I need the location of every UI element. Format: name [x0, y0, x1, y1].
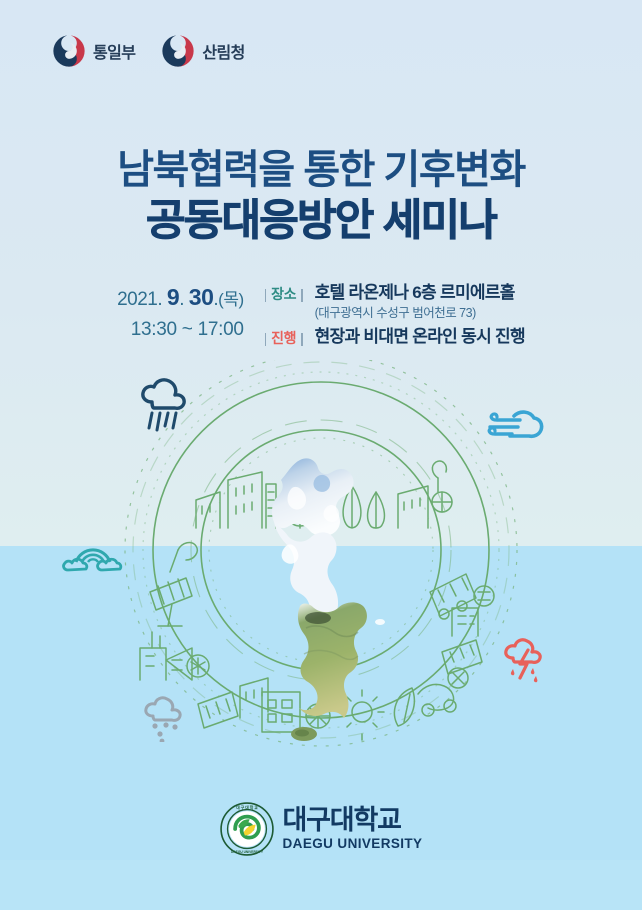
mode-description: 현장과 비대면 온라인 동시 진행: [315, 325, 525, 349]
transport-icons-right: [418, 668, 468, 716]
sea-background-lower: [0, 860, 642, 910]
ulleung-island: [375, 619, 385, 625]
svg-text:대 구 대 학 교: 대 구 대 학 교: [236, 805, 258, 810]
korea-forest-service-logo: 산림청: [161, 34, 244, 68]
event-info: 2021. 9. 30.(목) 13:30 ~ 17:00 장소 호텔 라온제나…: [0, 280, 642, 349]
svg-text:DAEGU UNIVERSITY: DAEGU UNIVERSITY: [231, 850, 264, 854]
wind-cloud-icon: [486, 406, 544, 455]
title-line-2: 공동대응방안 세미나: [0, 197, 642, 246]
building-icons-top-left: [196, 472, 276, 528]
daegu-university-logo: 대 구 대 학 교 DAEGU UNIVERSITY 대구대학교 DAEGU U…: [0, 802, 642, 856]
venue-name: 호텔 라온제나 6층 르미에르홀: [315, 281, 515, 305]
taegeuk-emblem-icon: [161, 34, 195, 68]
tag-bar-right: [301, 289, 303, 302]
venue-address: (대구광역시 수성구 범어천로 73): [315, 305, 515, 323]
date-year: 2021.: [117, 289, 162, 310]
ministry-of-unification-logo: 통일부: [52, 34, 135, 68]
event-datetime: 2021. 9. 30.(목) 13:30 ~ 17:00: [117, 280, 260, 344]
university-name-english: DAEGU UNIVERSITY: [283, 837, 423, 851]
tag-bar-left: [265, 289, 267, 302]
thunderstorm-icon: [500, 636, 550, 689]
snow-cloud-icon: [140, 694, 190, 747]
north-korea-region: [272, 458, 354, 536]
date-month: 9: [167, 284, 179, 310]
seminar-poster: 통일부 산림청 남북협력을 통한 기후변화 공동대응방안 세미나 2021. 9…: [0, 0, 642, 910]
factory-icons-left: [140, 632, 209, 680]
building-icons-bottom-left: [198, 678, 268, 728]
taegeuk-emblem-icon: [52, 34, 86, 68]
event-date: 2021. 9. 30.(목): [117, 281, 244, 314]
poster-title: 남북협력을 통한 기후변화 공동대응방안 세미나: [0, 148, 642, 246]
ministry-of-unification-label: 통일부: [93, 39, 135, 63]
tag-bar-right: [301, 333, 303, 346]
event-time: 13:30 ~ 17:00: [117, 316, 244, 344]
mode-value-group: 현장과 비대면 온라인 동시 진행: [315, 325, 525, 349]
venue-tag: 장소: [260, 281, 308, 305]
peninsula-midsection: [274, 522, 338, 614]
jeju-island-detail: [295, 730, 309, 737]
korean-peninsula-map: [272, 458, 385, 741]
university-name-korean: 대구대학교: [283, 807, 423, 834]
train-icons-right-upper: [430, 574, 494, 619]
venue-value-group: 호텔 라온제나 6층 르미에르홀 (대구광역시 수성구 범어천로 73): [315, 281, 515, 322]
government-logos: 통일부 산림청: [52, 34, 245, 68]
mode-tag-label: 진행: [271, 328, 296, 349]
rainbow-cloud-icon: [62, 530, 124, 579]
date-day: 30: [189, 284, 214, 310]
rain-cloud-icon: [136, 378, 192, 437]
venue-tag-label: 장소: [271, 284, 296, 305]
korea-forest-service-label: 산림청: [202, 39, 244, 63]
university-name-group: 대구대학교 DAEGU UNIVERSITY: [283, 807, 423, 851]
date-separator-1: .: [179, 289, 184, 310]
mountain-shadow: [305, 612, 331, 624]
tag-bar-left: [265, 333, 267, 346]
title-line-1: 남북협력을 통한 기후변화: [0, 148, 642, 193]
mode-tag: 진행: [260, 325, 308, 349]
daegu-university-seal-icon: 대 구 대 학 교 DAEGU UNIVERSITY: [220, 802, 274, 856]
event-details: 장소 호텔 라온제나 6층 르미에르홀 (대구광역시 수성구 범어천로 73) …: [260, 280, 525, 349]
mode-entry: 진행 현장과 비대면 온라인 동시 진행: [260, 325, 525, 349]
venue-entry: 장소 호텔 라온제나 6층 르미에르홀 (대구광역시 수성구 범어천로 73): [260, 281, 525, 322]
date-weekday: (목): [218, 290, 243, 309]
